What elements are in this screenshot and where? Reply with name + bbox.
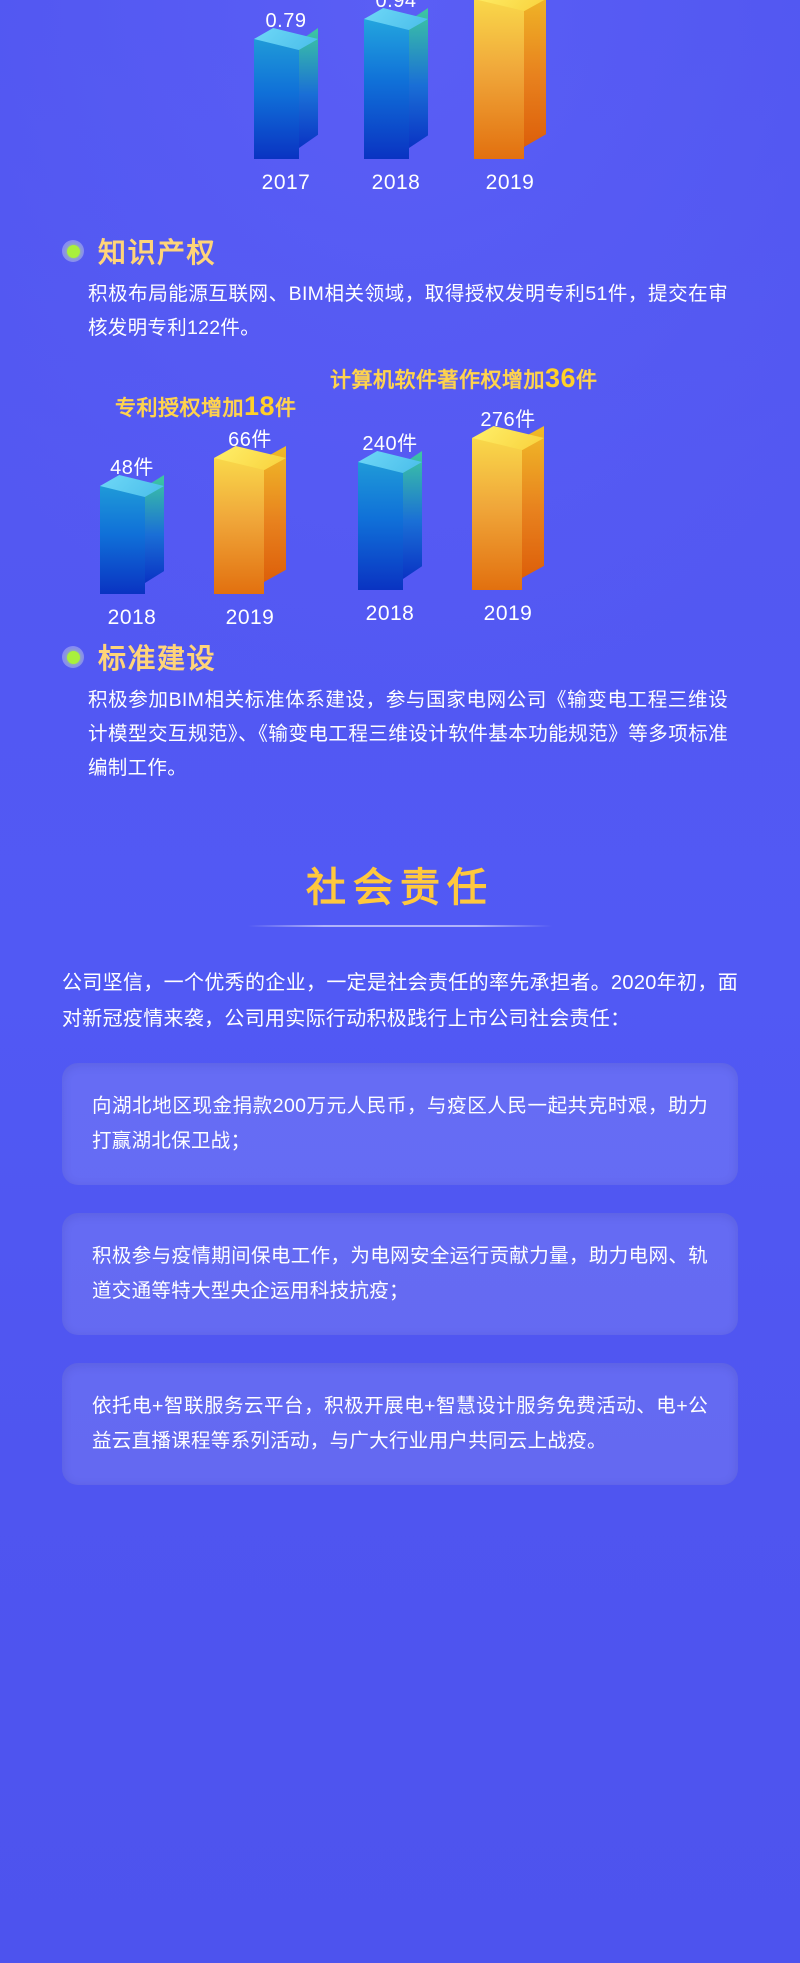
bar-3d-patent-2018 bbox=[100, 486, 164, 594]
bar-column-software-2018: 240件 2018 bbox=[358, 427, 422, 626]
bar-column-patent-2018: 48件 2018 bbox=[100, 451, 164, 630]
bar-column-software-2019: 276件 2019 bbox=[472, 403, 544, 626]
bar-value-software-2019: 276件 bbox=[480, 403, 535, 432]
bar-group-revenue: 0.79 2017 0.94 2018 bbox=[254, 0, 546, 195]
bar-value-software-2018: 240件 bbox=[362, 427, 417, 456]
section-title-standards: 标准建设 bbox=[98, 637, 216, 677]
bar-3d-software-2018 bbox=[358, 462, 422, 590]
caption-suffix: 件 bbox=[576, 369, 598, 392]
bar-label-patent-2019: 2019 bbox=[226, 606, 275, 630]
bar-3d-patent-2019 bbox=[214, 458, 286, 594]
section-header-standards: 标准建设 bbox=[0, 637, 800, 677]
caption-number: 36 bbox=[545, 363, 576, 393]
bar-side-face bbox=[522, 426, 544, 578]
infographic-page: 0.79 2017 0.94 2018 bbox=[0, 0, 800, 1963]
bar-column-2019: 2019 bbox=[474, 0, 546, 195]
bar-3d-software-2019 bbox=[472, 438, 544, 590]
bar-front-face bbox=[358, 462, 403, 590]
section-body-standards: 积极参加BIM相关标准体系建设，参与国家电网公司《输变电工程三维设计模型交互规范… bbox=[0, 677, 800, 785]
bar-front-face bbox=[474, 0, 524, 159]
bar-front-face bbox=[364, 19, 409, 159]
bar-label-software-2018: 2018 bbox=[366, 602, 415, 626]
bar-label-2019: 2019 bbox=[486, 171, 535, 195]
bullet-dot-icon bbox=[62, 646, 84, 668]
bar-column-2017: 0.79 2017 bbox=[254, 10, 318, 195]
bar-front-face bbox=[472, 438, 522, 590]
bar-label-2017: 2017 bbox=[262, 171, 311, 195]
bar-column-2018: 0.94 2018 bbox=[364, 0, 428, 195]
bar-label-patent-2018: 2018 bbox=[108, 606, 157, 630]
bar-3d-2017 bbox=[254, 39, 318, 159]
bar-side-face bbox=[409, 8, 428, 148]
bar-3d-2018 bbox=[364, 19, 428, 159]
caption-number: 18 bbox=[244, 391, 275, 421]
bar-column-patent-2019: 66件 2019 bbox=[214, 423, 286, 630]
section-title-ip: 知识产权 bbox=[98, 231, 216, 271]
social-card: 积极参与疫情期间保电工作，为电网安全运行贡献力量，助力电网、轨道交通等特大型央企… bbox=[62, 1213, 738, 1335]
charts-row-ip: 计算机软件著作权增加36件 专利授权增加18件 48件 2018 66件 bbox=[0, 363, 800, 623]
section-header-ip: 知识产权 bbox=[0, 231, 800, 271]
bar-value-patent-2018: 48件 bbox=[110, 451, 154, 480]
bar-front-face bbox=[100, 486, 145, 594]
chart-revenue: 0.79 2017 0.94 2018 bbox=[0, 0, 800, 195]
social-responsibility-title: 社会责任 bbox=[306, 855, 494, 927]
bar-front-face bbox=[254, 39, 299, 159]
social-card: 向湖北地区现金捐款200万元人民币，与疫区人民一起共克时艰，助力打赢湖北保卫战； bbox=[62, 1063, 738, 1185]
social-card: 依托电+智联服务云平台，积极开展电+智慧设计服务免费活动、电+公益云直播课程等系… bbox=[62, 1363, 738, 1485]
social-cards: 向湖北地区现金捐款200万元人民币，与疫区人民一起共克时艰，助力打赢湖北保卫战；… bbox=[0, 1037, 800, 1573]
bar-3d-2019 bbox=[474, 0, 546, 159]
chart-caption-patent: 专利授权增加18件 bbox=[115, 391, 297, 422]
chart-caption-software: 计算机软件著作权增加36件 bbox=[330, 363, 598, 394]
bar-front-face bbox=[214, 458, 264, 594]
bar-side-face bbox=[524, 0, 546, 147]
caption-prefix: 计算机软件著作权增加 bbox=[330, 369, 545, 392]
section-body-ip: 积极布局能源互联网、BIM相关领域，取得授权发明专利51件，提交在审核发明专利1… bbox=[0, 271, 800, 345]
bar-label-2018: 2018 bbox=[372, 171, 421, 195]
social-responsibility-title-wrap: 社会责任 bbox=[0, 855, 800, 927]
bullet-dot-icon bbox=[62, 240, 84, 262]
caption-prefix: 专利授权增加 bbox=[115, 397, 244, 420]
chart-software: 240件 2018 276件 2019 bbox=[358, 403, 544, 626]
chart-patent: 48件 2018 66件 2019 bbox=[100, 423, 286, 630]
caption-suffix: 件 bbox=[275, 397, 297, 420]
bar-label-software-2019: 2019 bbox=[484, 602, 533, 626]
social-intro-text: 公司坚信，一个优秀的企业，一定是社会责任的率先承担者。2020年初，面对新冠疫情… bbox=[0, 927, 800, 1037]
